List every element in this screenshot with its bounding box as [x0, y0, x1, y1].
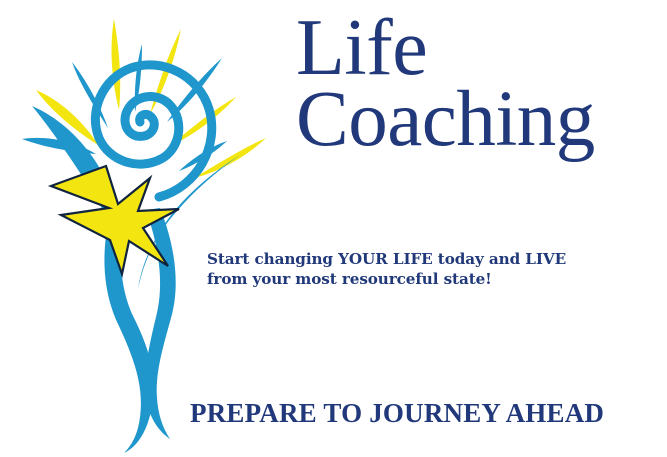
tagline-line-1: Start changing YOUR LIFE today and LIVE: [207, 249, 627, 269]
footer-slogan: PREPARE TO JOURNEY AHEAD: [190, 398, 610, 429]
title-line-life: Life: [296, 10, 662, 86]
tagline-line-2: from your most resourceful state!: [207, 269, 627, 289]
page-title: Life Coaching: [296, 10, 662, 157]
title-line-coaching: Coaching: [296, 82, 662, 157]
tagline: Start changing YOUR LIFE today and LIVE …: [207, 249, 627, 289]
ray-yellow-2: [112, 19, 121, 110]
life-coaching-flower-logo: [14, 2, 284, 454]
poster-canvas: Life Coaching Start changing YOUR LIFE t…: [0, 0, 667, 457]
